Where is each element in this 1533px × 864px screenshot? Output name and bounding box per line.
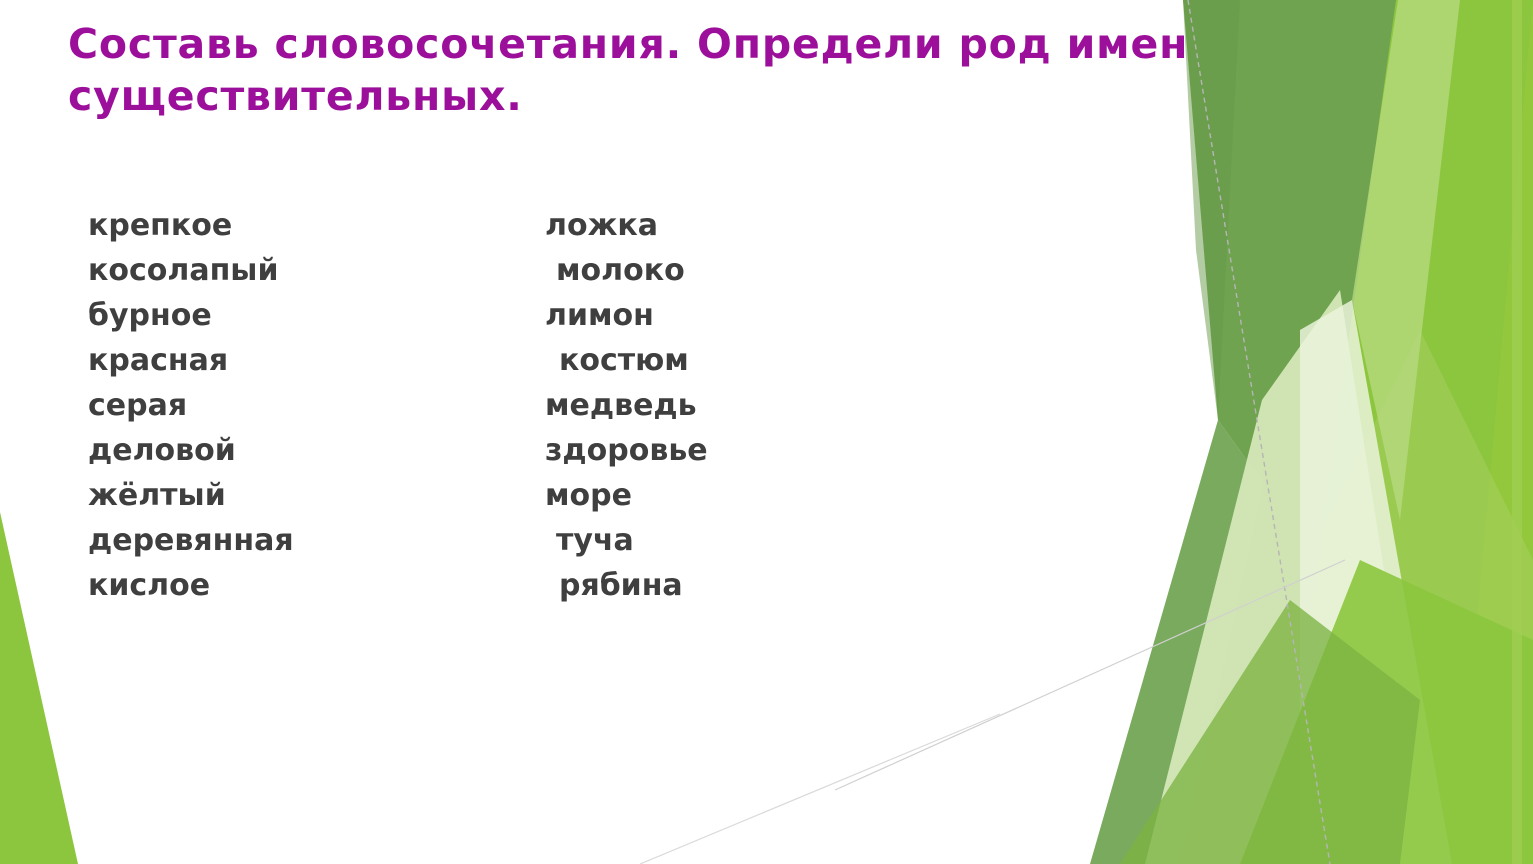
dashed-hairline-diagonal xyxy=(1188,0,1330,864)
bottom-left-green-wedge xyxy=(0,512,78,864)
word-item[interactable]: кислое xyxy=(88,563,294,608)
olive-green-lower-band xyxy=(1090,420,1318,864)
word-item[interactable]: море xyxy=(545,473,708,518)
faint-hairline-sweep xyxy=(835,560,1345,790)
faint-hairline-sweep-extension xyxy=(640,714,1000,864)
word-item[interactable]: костюм xyxy=(545,338,708,383)
right-green-panel xyxy=(1455,0,1533,864)
word-item[interactable]: красная xyxy=(88,338,294,383)
light-green-upper-wedge xyxy=(1352,0,1460,520)
pale-green-narrow-triangle xyxy=(1300,300,1452,864)
word-item[interactable]: бурное xyxy=(88,293,294,338)
word-item[interactable]: здоровье xyxy=(545,428,708,473)
word-item[interactable]: деловой xyxy=(88,428,294,473)
slide-title: Составь словосочетания. Определи род име… xyxy=(68,18,1298,123)
word-item[interactable]: ложка xyxy=(545,203,708,248)
right-edge-light-stripe xyxy=(1512,0,1522,864)
word-item[interactable]: рябина xyxy=(545,563,708,608)
word-item[interactable]: туча xyxy=(545,518,708,563)
bright-green-foreground-wedge xyxy=(1240,560,1533,864)
word-item[interactable]: косолапый xyxy=(88,248,294,293)
nouns-column: ложка молоко лимон костюм медведь здоров… xyxy=(545,203,708,608)
slide-canvas: Составь словосочетания. Определи род име… xyxy=(0,0,1533,864)
word-item[interactable]: крепкое xyxy=(88,203,294,248)
word-item[interactable]: серая xyxy=(88,383,294,428)
mid-green-bottom-band xyxy=(1120,600,1420,864)
word-item[interactable]: медведь xyxy=(545,383,708,428)
light-green-translucent-triangle xyxy=(1145,290,1430,864)
word-item[interactable]: деревянная xyxy=(88,518,294,563)
word-item[interactable]: молоко xyxy=(545,248,708,293)
pale-green-triangle xyxy=(1160,330,1533,864)
word-item[interactable]: лимон xyxy=(545,293,708,338)
adjectives-column: крепкое косолапый бурное красная серая д… xyxy=(88,203,294,608)
right-bright-green-field xyxy=(1180,0,1533,864)
word-item[interactable]: жёлтый xyxy=(88,473,294,518)
